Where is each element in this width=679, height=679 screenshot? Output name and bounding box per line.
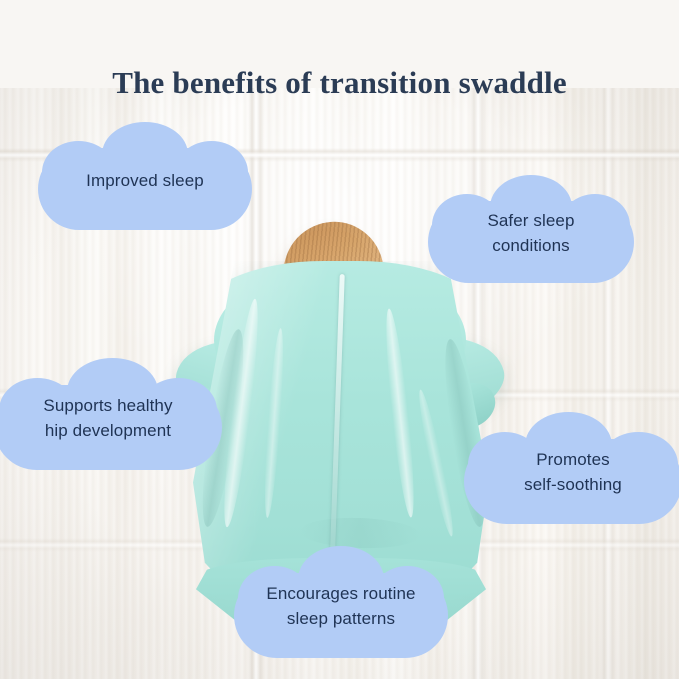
benefit-cloud-sleep-patterns[interactable]: Encourages routine sleep patterns <box>234 546 448 658</box>
cloud-base <box>38 148 252 230</box>
page-title: The benefits of transition swaddle <box>0 65 679 101</box>
benefit-cloud-hip-development[interactable]: Supports healthy hip development <box>0 358 222 470</box>
cloud-base <box>428 201 634 283</box>
benefit-cloud-self-soothing[interactable]: Promotes self-soothing <box>464 412 679 524</box>
cloud-base <box>464 439 679 524</box>
infographic-canvas: The benefits of transition swaddle Impro… <box>0 0 679 679</box>
benefit-cloud-improved-sleep[interactable]: Improved sleep <box>38 122 252 230</box>
cloud-base <box>0 385 222 470</box>
benefit-cloud-safer-sleep[interactable]: Safer sleep conditions <box>428 175 634 283</box>
cloud-base <box>234 573 448 658</box>
